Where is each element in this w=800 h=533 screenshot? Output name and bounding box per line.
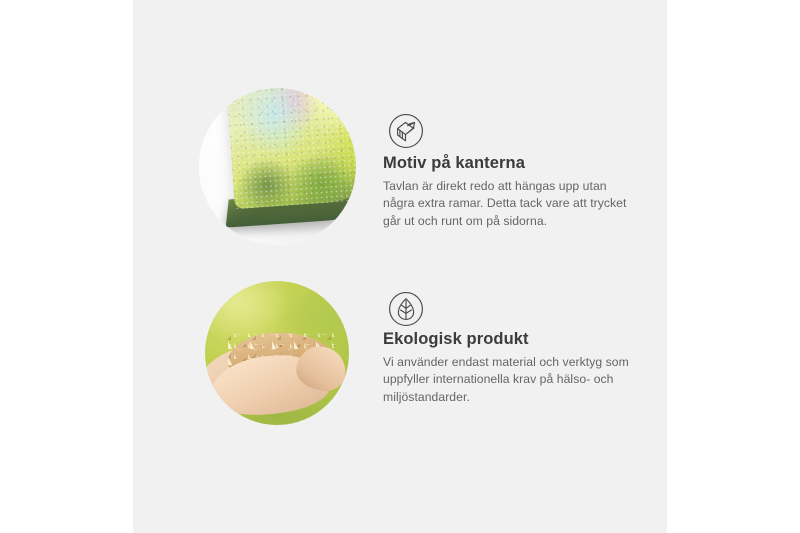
feature-title: Ekologisk produkt <box>383 330 658 349</box>
feature-block-eco: Ekologisk produkt Vi använder endast mat… <box>133 264 667 444</box>
canvas-wrapped-edge-icon <box>383 108 429 154</box>
wood-chips-in-hands-photo <box>205 281 349 425</box>
feature-body: Vi använder endast material och verktyg … <box>383 354 658 406</box>
feature-body: Tavlan är direkt redo att hängas upp uta… <box>383 178 633 230</box>
leaf-icon <box>383 286 429 332</box>
feature-panel: Motiv på kanterna Tavlan är direkt redo … <box>133 0 667 533</box>
canvas-corner-photo <box>199 88 356 245</box>
product-feature-panel-screenshot: Motiv på kanterna Tavlan är direkt redo … <box>0 0 800 533</box>
feature-text-edges: Motiv på kanterna Tavlan är direkt redo … <box>383 154 633 230</box>
feature-title: Motiv på kanterna <box>383 154 633 173</box>
feature-text-eco: Ekologisk produkt Vi använder endast mat… <box>383 330 658 406</box>
feature-block-edges: Motiv på kanterna Tavlan är direkt redo … <box>133 78 667 258</box>
canvas-printed-face <box>226 88 356 209</box>
